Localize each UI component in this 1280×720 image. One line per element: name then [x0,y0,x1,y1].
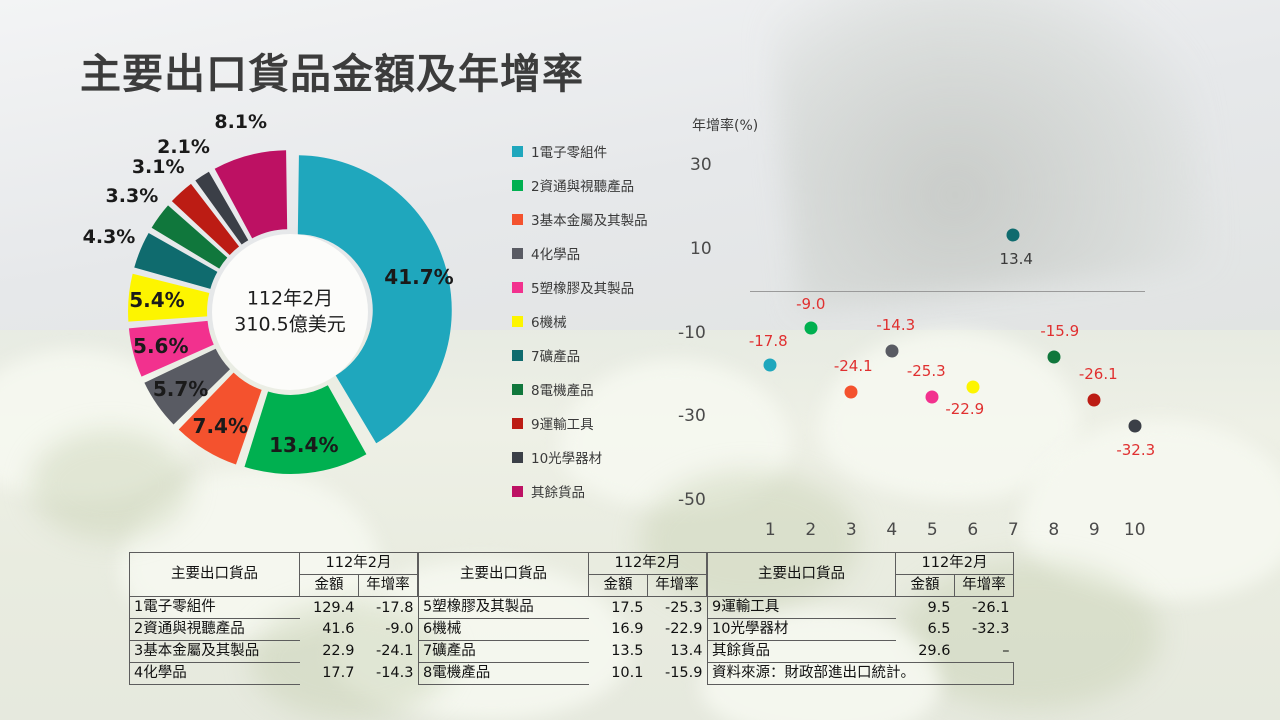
data-table-block1: 主要出口貨品 112年2月 金額 年增率 1電子零組件 129.4 -17.8 … [129,552,418,685]
legend-swatch-icon [512,248,523,259]
table-cell-amount: 41.6 [300,619,359,641]
donut-percent-label: 13.4% [269,433,338,457]
legend-item-label: 8電機產品 [531,379,594,399]
table-cell-name: 3基本金屬及其製品 [130,641,300,663]
scatter-point[interactable] [1007,228,1020,241]
scatter-point-label: -26.1 [1079,365,1118,383]
scatter-point[interactable] [1047,351,1060,364]
legend-item[interactable]: 6機械 [512,304,648,338]
table-cell-name: 1電子零組件 [130,597,300,619]
table-row: 其餘貨品 29.6 – [708,641,1014,663]
scatter-y-tick-label: 30 [690,155,712,175]
scatter-x-tick-label: 9 [1089,520,1100,540]
legend-swatch-icon [512,418,523,429]
scatter-x-tick-label: 3 [846,520,857,540]
table-cell-amount: 13.5 [589,641,648,663]
legend-item-label: 2資通與視聽產品 [531,175,634,195]
scatter-y-tick-label: 10 [690,239,712,259]
table-row: 2資通與視聽產品 41.6 -9.0 [130,619,418,641]
table-cell-growth: – [955,641,1014,663]
scatter-point[interactable] [926,390,939,403]
legend-swatch-icon [512,350,523,361]
table-header-name: 主要出口貨品 [130,553,300,597]
data-tables: 主要出口貨品 112年2月 金額 年增率 1電子零組件 129.4 -17.8 … [129,552,1014,685]
scatter-zero-line [750,291,1145,292]
scatter-y-tick-label: -30 [678,406,706,426]
donut-percent-label: 5.6% [133,334,188,358]
table-cell-amount: 9.5 [896,597,955,619]
donut-percent-label: 8.1% [214,111,267,133]
legend-swatch-icon [512,180,523,191]
donut-percent-label: 7.4% [193,414,248,438]
table-header-growth: 年增率 [648,575,707,597]
table-cell-growth: -22.9 [648,619,707,641]
legend-swatch-icon [512,214,523,225]
legend-item[interactable]: 3基本金屬及其製品 [512,202,648,236]
table-source-note: 資料來源：財政部進出口統計。 [708,663,1014,685]
legend-swatch-icon [512,316,523,327]
table-header-name: 主要出口貨品 [708,553,896,597]
scatter-x-tick-label: 4 [886,520,897,540]
table-source-row: 資料來源：財政部進出口統計。 [708,663,1014,685]
scatter-chart: 年增率(%) 3010-10-30-50 12345678910 -17.8-9… [670,105,1170,535]
scatter-point-label: -22.9 [945,400,984,418]
donut-percent-label: 5.4% [129,288,184,312]
legend-item-label: 1電子零組件 [531,141,607,161]
donut-percent-label: 3.3% [106,185,159,207]
legend-item[interactable]: 8電機產品 [512,372,648,406]
table-cell-growth: -26.1 [955,597,1014,619]
legend-swatch-icon [512,452,523,463]
legend-item-label: 7礦產品 [531,345,580,365]
table-cell-name: 其餘貨品 [708,641,896,663]
table-row: 10光學器材 6.5 -32.3 [708,619,1014,641]
scatter-point[interactable] [1088,393,1101,406]
table-cell-growth: -32.3 [955,619,1014,641]
scatter-point[interactable] [885,344,898,357]
donut-center-label: 112年2月 310.5億美元 [234,286,345,337]
legend-item-label: 3基本金屬及其製品 [531,209,648,229]
table-cell-amount: 6.5 [896,619,955,641]
scatter-point-label: -24.1 [834,357,873,375]
donut-center-line1: 112年2月 [234,286,345,312]
table-cell-amount: 10.1 [589,663,648,685]
donut-slice [215,150,287,238]
donut-percent-label: 3.1% [132,156,185,178]
table-row: 9運輸工具 9.5 -26.1 [708,597,1014,619]
legend-item[interactable]: 5塑橡膠及其製品 [512,270,648,304]
table-cell-amount: 29.6 [896,641,955,663]
scatter-x-tick-label: 1 [765,520,776,540]
legend-item[interactable]: 9運輸工具 [512,406,648,440]
scatter-point[interactable] [966,380,979,393]
legend-item[interactable]: 10光學器材 [512,440,648,474]
table-cell-name: 10光學器材 [708,619,896,641]
scatter-point-label: -32.3 [1116,441,1155,459]
legend-swatch-icon [512,146,523,157]
scatter-point-label: -14.3 [876,316,915,334]
table-header-period: 112年2月 [300,553,418,575]
chart-legend: 1電子零組件2資通與視聽產品3基本金屬及其製品4化學品5塑橡膠及其製品6機械7礦… [512,134,648,508]
scatter-point[interactable] [1128,419,1141,432]
legend-item[interactable]: 1電子零組件 [512,134,648,168]
legend-item[interactable]: 4化學品 [512,236,648,270]
legend-swatch-icon [512,486,523,497]
table-cell-growth: -14.3 [359,663,418,685]
table-row: 8電機產品 10.1 -15.9 [419,663,707,685]
scatter-y-tick-label: -50 [678,490,706,510]
legend-swatch-icon [512,384,523,395]
data-table-block2: 主要出口貨品 112年2月 金額 年增率 5塑橡膠及其製品 17.5 -25.3… [418,552,707,685]
table-cell-growth: -17.8 [359,597,418,619]
legend-item-label: 4化學品 [531,243,580,263]
table-row: 1電子零組件 129.4 -17.8 [130,597,418,619]
table-cell-name: 8電機產品 [419,663,589,685]
table-cell-growth: 13.4 [648,641,707,663]
table-header-growth: 年增率 [359,575,418,597]
table-cell-name: 7礦產品 [419,641,589,663]
legend-item-label: 6機械 [531,311,567,331]
donut-percent-label: 41.7% [384,265,453,289]
table-row: 5塑橡膠及其製品 17.5 -25.3 [419,597,707,619]
scatter-x-tick-label: 7 [1008,520,1019,540]
table-row: 7礦產品 13.5 13.4 [419,641,707,663]
donut-percent-label: 5.7% [153,377,208,401]
donut-percent-label: 4.3% [83,226,136,248]
scatter-point-label: -17.8 [749,332,788,350]
table-cell-name: 5塑橡膠及其製品 [419,597,589,619]
donut-center-line2: 310.5億美元 [234,312,345,338]
donut-percent-label: 2.1% [157,136,210,158]
table-header-period: 112年2月 [896,553,1014,575]
scatter-x-tick-label: 10 [1124,520,1146,540]
table-cell-amount: 17.7 [300,663,359,685]
table-cell-name: 4化學品 [130,663,300,685]
scatter-x-tick-label: 6 [967,520,978,540]
table-header-amount: 金額 [300,575,359,597]
table-cell-growth: -25.3 [648,597,707,619]
table-header-period: 112年2月 [589,553,707,575]
table-cell-name: 9運輸工具 [708,597,896,619]
scatter-y-axis-title: 年增率(%) [692,115,758,135]
table-cell-name: 6機械 [419,619,589,641]
page-title: 主要出口貨品金額及年增率 [80,40,584,100]
scatter-point-label: -9.0 [796,295,825,313]
table-cell-amount: 16.9 [589,619,648,641]
table-cell-amount: 22.9 [300,641,359,663]
table-cell-name: 2資通與視聽產品 [130,619,300,641]
legend-item-label: 5塑橡膠及其製品 [531,277,634,297]
legend-item-label: 10光學器材 [531,447,602,467]
table-header-row: 主要出口貨品 112年2月 [130,553,418,575]
scatter-x-tick-label: 5 [927,520,938,540]
table-header-amount: 金額 [589,575,648,597]
table-header-name: 主要出口貨品 [419,553,589,597]
scatter-point-label: -25.3 [907,362,946,380]
table-header-growth: 年增率 [955,575,1014,597]
legend-item-label: 9運輸工具 [531,413,594,433]
legend-swatch-icon [512,282,523,293]
legend-item[interactable]: 2資通與視聽產品 [512,168,648,202]
scatter-point[interactable] [764,359,777,372]
scatter-x-tick-label: 2 [805,520,816,540]
scatter-y-tick-label: -10 [678,323,706,343]
legend-item-label: 其餘貨品 [531,481,585,501]
scatter-x-tick-label: 8 [1048,520,1059,540]
donut-chart: 112年2月 310.5億美元 41.7%13.4%7.4%5.7%5.6%5.… [95,112,485,512]
scatter-point-label: -15.9 [1040,322,1079,340]
table-row: 3基本金屬及其製品 22.9 -24.1 [130,641,418,663]
table-header-amount: 金額 [896,575,955,597]
table-cell-amount: 17.5 [589,597,648,619]
table-row: 4化學品 17.7 -14.3 [130,663,418,685]
legend-item[interactable]: 其餘貨品 [512,474,648,508]
scatter-point[interactable] [845,385,858,398]
table-cell-amount: 129.4 [300,597,359,619]
scatter-point[interactable] [804,322,817,335]
table-row: 6機械 16.9 -22.9 [419,619,707,641]
table-cell-growth: -24.1 [359,641,418,663]
legend-item[interactable]: 7礦產品 [512,338,648,372]
scatter-point-label: 13.4 [1000,250,1033,268]
donut-slice [244,385,366,474]
table-cell-growth: -9.0 [359,619,418,641]
data-table-block3: 主要出口貨品 112年2月 金額 年增率 9運輸工具 9.5 -26.1 10光… [707,552,1014,685]
table-cell-growth: -15.9 [648,663,707,685]
table-header-row: 主要出口貨品 112年2月 [708,553,1014,575]
table-header-row: 主要出口貨品 112年2月 [419,553,707,575]
